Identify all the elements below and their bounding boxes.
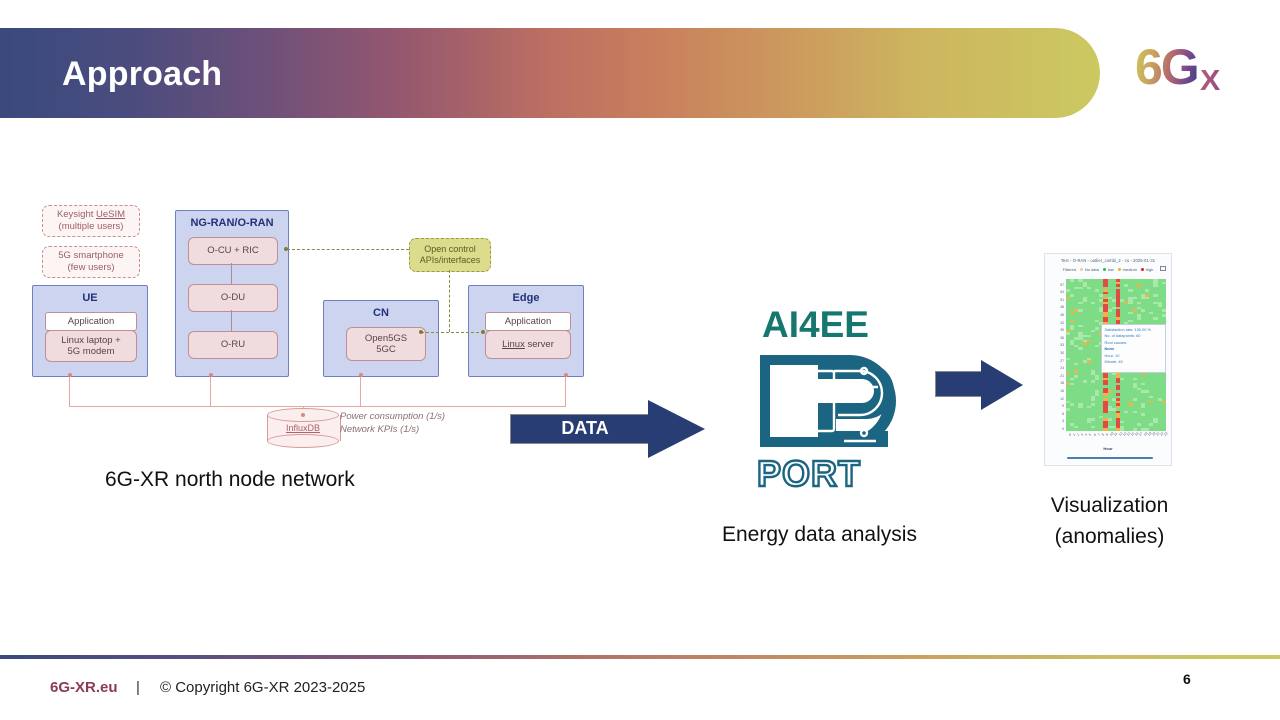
connector-ocu-odu [231,263,232,284]
bus-branch-ngran [210,375,211,406]
box-ue-title: UE [33,292,147,304]
heatmap-y-tick: 39 [1060,328,1064,332]
visualization-caption: Visualization (anomalies) [1037,490,1182,552]
heatmap-title: Test - O-RAN - outlier_combi_2 - cu - 20… [1045,258,1171,263]
tooltip-minute: Minute: 45 [1105,359,1163,365]
heatmap-y-tick: 21 [1060,374,1064,378]
bus-dot-edge [564,373,568,377]
legend-filtered-label: Filtered [1063,267,1076,272]
heatmap-y-tick: 6 [1062,412,1064,416]
db-cylinder-bottom [267,434,339,448]
db-note-line1: Power consumption (1/s) [340,411,445,424]
legend-item-high: high [1141,267,1153,272]
heatmap-x-axis-labels: 01234567891011121314151617181920212223 [1066,434,1166,446]
link-apis-vertical [449,270,450,332]
network-diagram-caption: 6G-XR north node network [105,468,355,492]
link-ocu-to-apis [287,249,409,250]
cn-open5gs-line2: 5GC [376,344,396,356]
d2port-product-text: PORT [757,455,861,493]
legend-item-low: low [1103,267,1114,272]
heatmap-x-axis-title: Hour [1045,446,1171,451]
heatmap-y-tick: 18 [1060,381,1064,385]
legend-item-nodata: No data [1080,267,1099,272]
note-keysight-uesim: Keysight UeSIM (multiple users) [42,205,140,237]
cn-open5gs-line1: Open5GS [365,333,407,345]
box-cn: CN Open5GS 5GC [323,300,439,377]
connector-odu-oru [231,310,232,331]
heatmap-y-tick: 30 [1060,351,1064,355]
ai4ee-d2port-logo: AI4EE PORT [755,305,910,505]
footer-divider [0,655,1280,659]
edge-linux-server: Linux server [485,330,571,359]
heatmap-tooltip: Satisfaction rate: 100.00 % No. of datap… [1101,324,1166,373]
page-number: 6 [1183,671,1191,687]
ue-application: Application [45,312,137,331]
link-dot-ocu [284,247,288,251]
heatmap-y-tick: 36 [1060,336,1064,340]
heatmap-y-tick: 24 [1060,366,1064,370]
box-cn-title: CN [324,307,438,319]
box-ngran-title: NG-RAN/O-RAN [176,217,288,229]
brand-logo: 6G XR [1135,42,1260,104]
heatmap-y-tick: 48 [1060,305,1064,309]
bus-dot-ngran [209,373,213,377]
heatmap-y-tick: 57 [1060,283,1064,287]
open-control-line1: Open control [424,244,476,255]
viz-arrow-head [981,360,1023,410]
link-dot-cn [419,330,423,334]
heatmap-y-tick: 33 [1060,343,1064,347]
edge-application: Application [485,312,571,331]
legend-item-medium: medium [1118,267,1137,272]
ai4ee-caption: Energy data analysis [722,523,917,547]
heatmap-y-tick: 42 [1060,321,1064,325]
heatmap-x-tick: 23 [1163,431,1169,437]
page-title: Approach [62,55,222,94]
data-flow-arrow: DATA [510,400,705,458]
note-keysight-line1: Keysight UeSIM [57,209,125,221]
heatmap-y-tick: 12 [1060,397,1064,401]
db-dot [301,413,305,417]
heatmap-y-axis-labels: 036912151821242730333639424548515457 [1047,279,1065,431]
db-label: InfluxDB [267,423,339,433]
box-edge-title: Edge [469,292,583,304]
note-5g-smartphone: 5G smartphone (few users) [42,246,140,278]
heatmap-y-tick: 51 [1060,298,1064,302]
note-smartphone-line2: (few users) [68,262,115,274]
open-control-line2: APIs/interfaces [420,255,481,266]
bus-branch-ue [69,375,70,406]
footer-brand-link[interactable]: 6G-XR.eu [50,679,118,696]
ngran-odu: O-DU [188,284,278,312]
link-dot-edge [481,330,485,334]
heatmap-y-tick: 15 [1060,389,1064,393]
heatmap-y-tick: 45 [1060,313,1064,317]
footer-separator: | [136,679,140,696]
db-metrics-note: Power consumption (1/s) Network KPIs (1/… [340,411,445,436]
visualization-flow-arrow [935,360,1023,410]
ue-linux-line1: Linux laptop + [61,335,120,347]
note-smartphone-line1: 5G smartphone [58,250,123,262]
db-note-line2: Network KPIs (1/s) [340,424,445,437]
viz-caption-line1: Visualization [1051,494,1169,517]
ue-linux-laptop: Linux laptop + 5G modem [45,330,137,362]
note-keysight-line2: (multiple users) [59,221,124,233]
d2port-monogram-icon [758,353,898,451]
cn-open5gs: Open5GS 5GC [346,327,426,361]
heatmap-y-tick: 27 [1060,359,1064,363]
bus-branch-cn [360,375,361,406]
viz-caption-line2: (anomalies) [1055,525,1165,548]
bus-dot-ue [68,373,72,377]
footer-copyright: © Copyright 6G-XR 2023-2025 [160,679,365,696]
box-ngran-oran: NG-RAN/O-RAN O-CU + RIC O-DU O-RU [175,210,289,377]
bus-dot-cn [359,373,363,377]
box-open-control-apis: Open control APIs/interfaces [409,238,491,272]
box-edge: Edge Application Linux server [468,285,584,377]
heatmap-y-tick: 3 [1062,419,1064,423]
box-ue: UE Application Linux laptop + 5G modem [32,285,148,377]
link-cn-to-edge [421,332,484,333]
edge-linux-label: Linux server [502,339,554,351]
anomaly-heatmap-screenshot: Test - O-RAN - outlier_combi_2 - cu - 20… [1044,253,1172,466]
viz-arrow-shaft [935,371,983,397]
logo-xr-text: XR [1200,67,1240,96]
heatmap-y-tick: 0 [1062,427,1064,431]
data-arrow-label: DATA [510,418,660,439]
heatmap-menu-icon[interactable] [1160,266,1166,271]
heatmap-legend: Filtered No data low medium high [1045,267,1171,272]
ue-linux-line2: 5G modem [68,346,115,358]
ngran-ocu-ric: O-CU + RIC [188,237,278,265]
ngran-oru: O-RU [188,331,278,359]
ai4ee-brand-text: AI4EE [762,305,869,345]
heatmap-y-tick: 9 [1062,404,1064,408]
logo-6g-text: 6G [1135,42,1198,92]
influxdb-database: InfluxDB [267,408,339,448]
heatmap-scrollbar[interactable] [1067,457,1153,459]
heatmap-y-tick: 54 [1060,290,1064,294]
